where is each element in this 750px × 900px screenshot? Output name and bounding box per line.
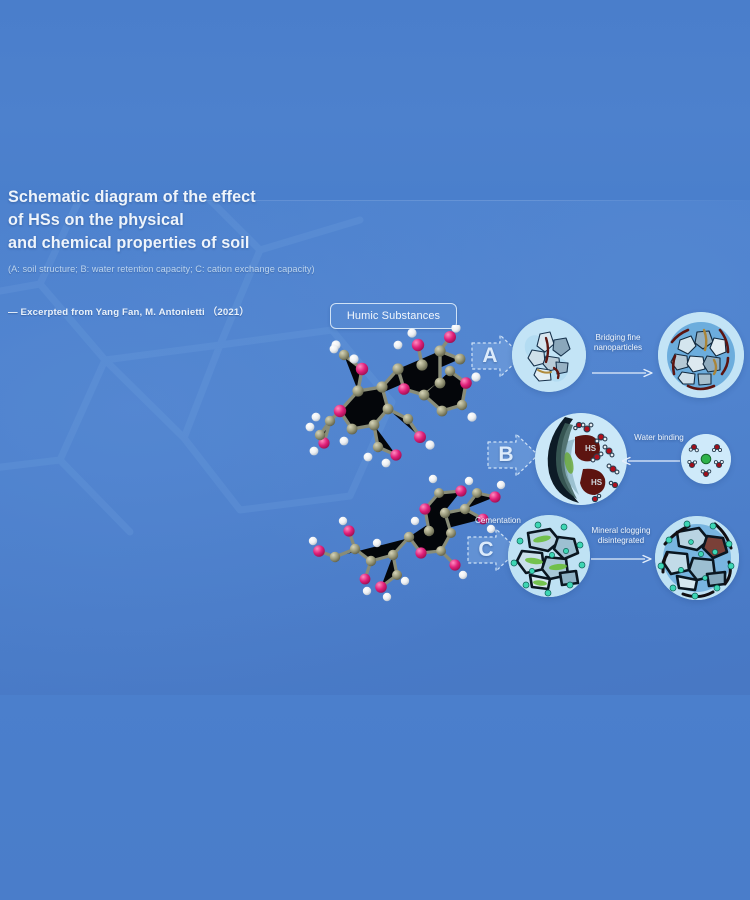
panel-c-right-circle <box>655 516 739 600</box>
panel-b-right-circle <box>681 434 731 484</box>
title-line-1: Schematic diagram of the effect <box>8 186 338 209</box>
panel-b-connector-arrow <box>622 453 680 463</box>
panel-a-caption: Bridging fine nanoparticles <box>578 333 658 353</box>
panel-a-connector-arrow <box>592 365 654 375</box>
panel-a-right-circle <box>658 312 744 398</box>
humic-substances-text: Humic Substances <box>347 310 440 322</box>
panel-a-caption-line2: nanoparticles <box>578 343 658 353</box>
panel-b-letter: B <box>486 432 526 478</box>
figure-canvas: Schematic diagram of the effect of HSs o… <box>0 0 750 900</box>
bottom-padding <box>0 695 750 900</box>
panel-a-left-circle <box>512 318 586 392</box>
panel-b-arrow-tag: B <box>486 432 540 478</box>
humic-substances-label: Humic Substances <box>330 303 457 329</box>
panel-c-letter: C <box>466 527 506 573</box>
panel-c-caption-line2: disintegrated <box>578 536 664 546</box>
top-padding <box>0 0 750 200</box>
panel-b-caption: Water binding <box>628 433 690 443</box>
panel-b-left-circle: HS HS <box>535 413 627 505</box>
title-line-2: of HSs on the physical <box>8 209 338 232</box>
panel-c-caption-line1: Mineral clogging <box>578 526 664 536</box>
title-line-3: and chemical properties of soil <box>8 232 338 255</box>
panel-c-caption: Mineral clogging disintegrated <box>578 526 664 546</box>
panel-a-letter: A <box>470 333 510 379</box>
panel-c-connector-arrow <box>591 551 653 561</box>
subtitle-legend: (A: soil structure; B: water retention c… <box>8 263 338 276</box>
source-credit: — Excerpted from Yang Fan, M. Antonietti… <box>8 304 338 318</box>
panel-a-caption-line1: Bridging fine <box>578 333 658 343</box>
svg-text:HS: HS <box>591 478 603 487</box>
text-block: Schematic diagram of the effect of HSs o… <box>8 186 338 328</box>
panel-c-pre-caption: Cementation <box>468 516 528 526</box>
page-title: Schematic diagram of the effect of HSs o… <box>8 186 338 255</box>
panel-b-caption-line1: Water binding <box>628 433 690 443</box>
svg-text:HS: HS <box>585 444 597 453</box>
